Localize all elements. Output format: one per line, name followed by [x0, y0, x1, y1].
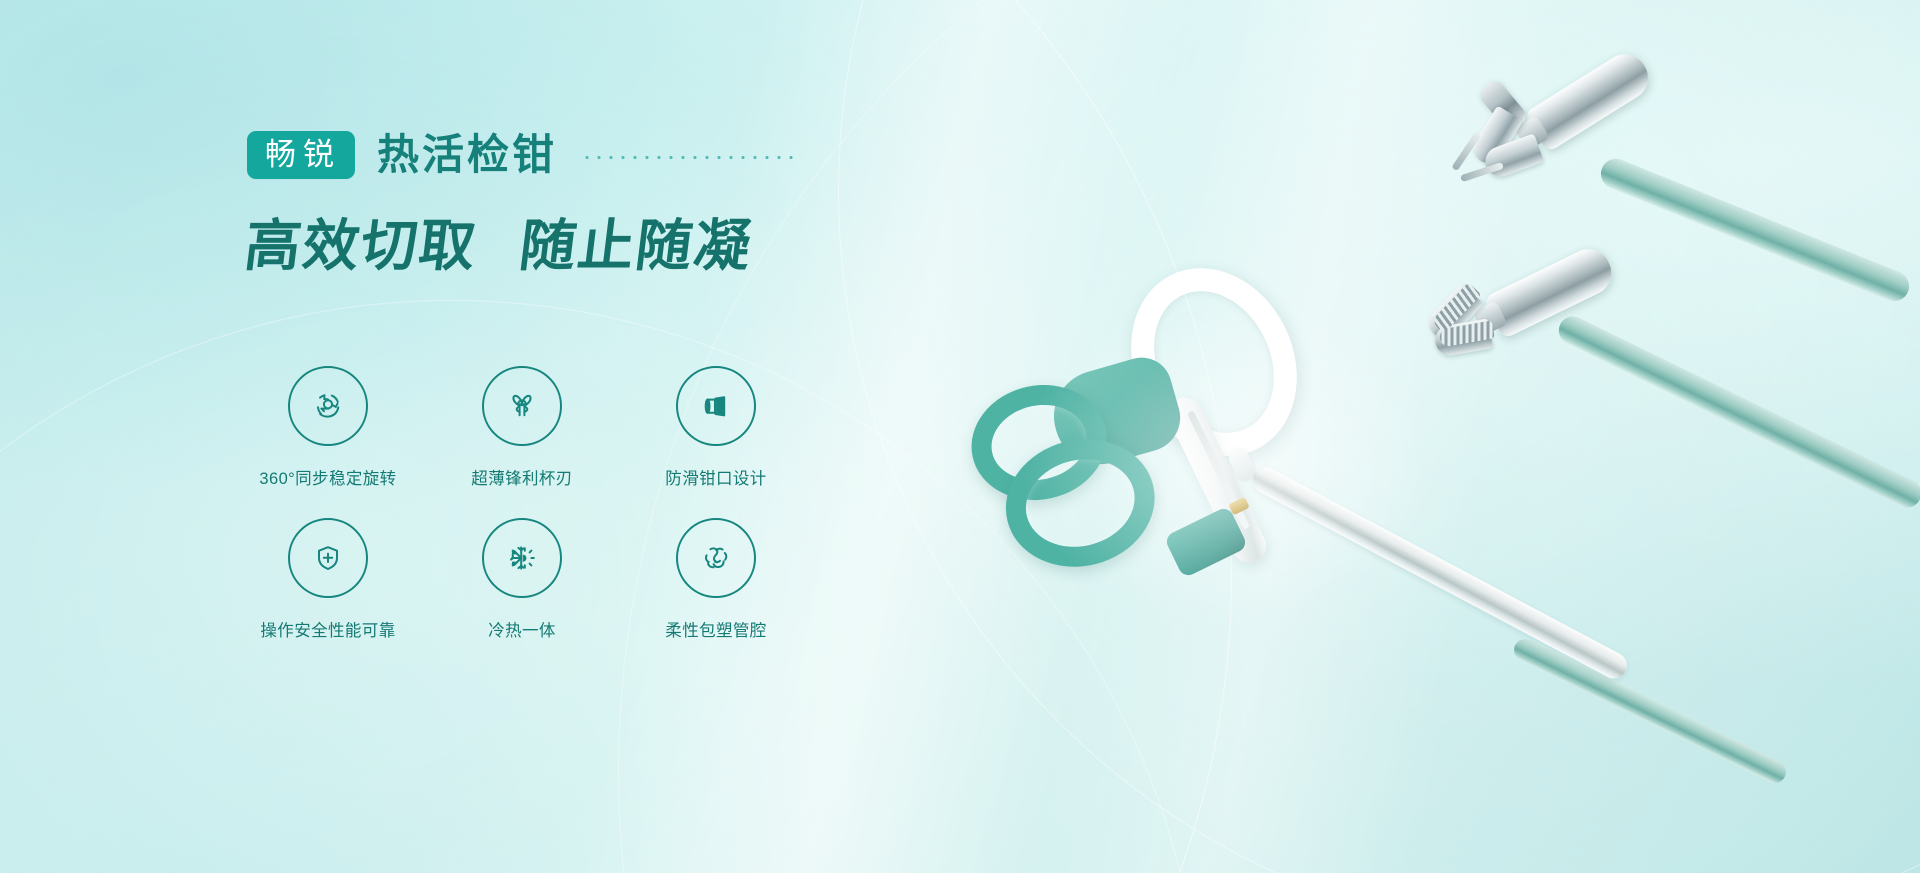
feature-item: 柔性包塑管腔 [619, 518, 813, 670]
feature-item: 冷热一体 [425, 518, 619, 670]
product-title: 热活检钳 [377, 134, 557, 176]
feature-icon-circle [482, 366, 562, 446]
brand-badge: 畅锐 [247, 131, 355, 179]
tagline: 高效切取 随止随凝 [241, 216, 756, 278]
feature-label: 超薄锋利杯刃 [471, 465, 572, 489]
feature-item: 360°同步稳定旋转 [231, 366, 425, 518]
feature-icon-circle [288, 366, 368, 446]
feature-item: 防滑钳口设计 [619, 366, 813, 518]
anti-slip-jaw-icon [694, 384, 738, 428]
feature-label: 360°同步稳定旋转 [259, 465, 396, 489]
dotted-divider [581, 156, 797, 159]
feature-icon-circle [676, 366, 756, 446]
product-green-sheath-lower [1510, 635, 1789, 786]
rotation-360-icon [306, 384, 350, 428]
feature-label: 柔性包塑管腔 [665, 617, 766, 641]
banner-stage: 畅锐 热活检钳 高效切取 随止随凝 [0, 0, 1920, 873]
feature-label: 防滑钳口设计 [665, 465, 766, 489]
product-shaft-main [1248, 463, 1631, 683]
feature-label: 冷热一体 [488, 617, 556, 641]
content-column: 畅锐 热活检钳 高效切取 随止随凝 [0, 0, 900, 873]
title-row: 畅锐 热活检钳 [247, 131, 797, 179]
product-green-sheath-top [1596, 154, 1913, 305]
feature-item: 超薄锋利杯刃 [425, 366, 619, 518]
feature-grid: 360°同步稳定旋转 [231, 366, 813, 670]
feature-icon-circle [676, 518, 756, 598]
feature-label: 操作安全性能可靠 [260, 617, 395, 641]
shield-plus-icon [306, 536, 350, 580]
forceps-cups-icon [500, 384, 544, 428]
feature-icon-circle [288, 518, 368, 598]
product-green-sheath-mid [1554, 312, 1920, 513]
feature-icon-circle [482, 518, 562, 598]
flexible-lumen-icon [694, 536, 738, 580]
hot-cold-icon [500, 536, 544, 580]
feature-item: 操作安全性能可靠 [231, 518, 425, 670]
product-image [900, 0, 1920, 873]
